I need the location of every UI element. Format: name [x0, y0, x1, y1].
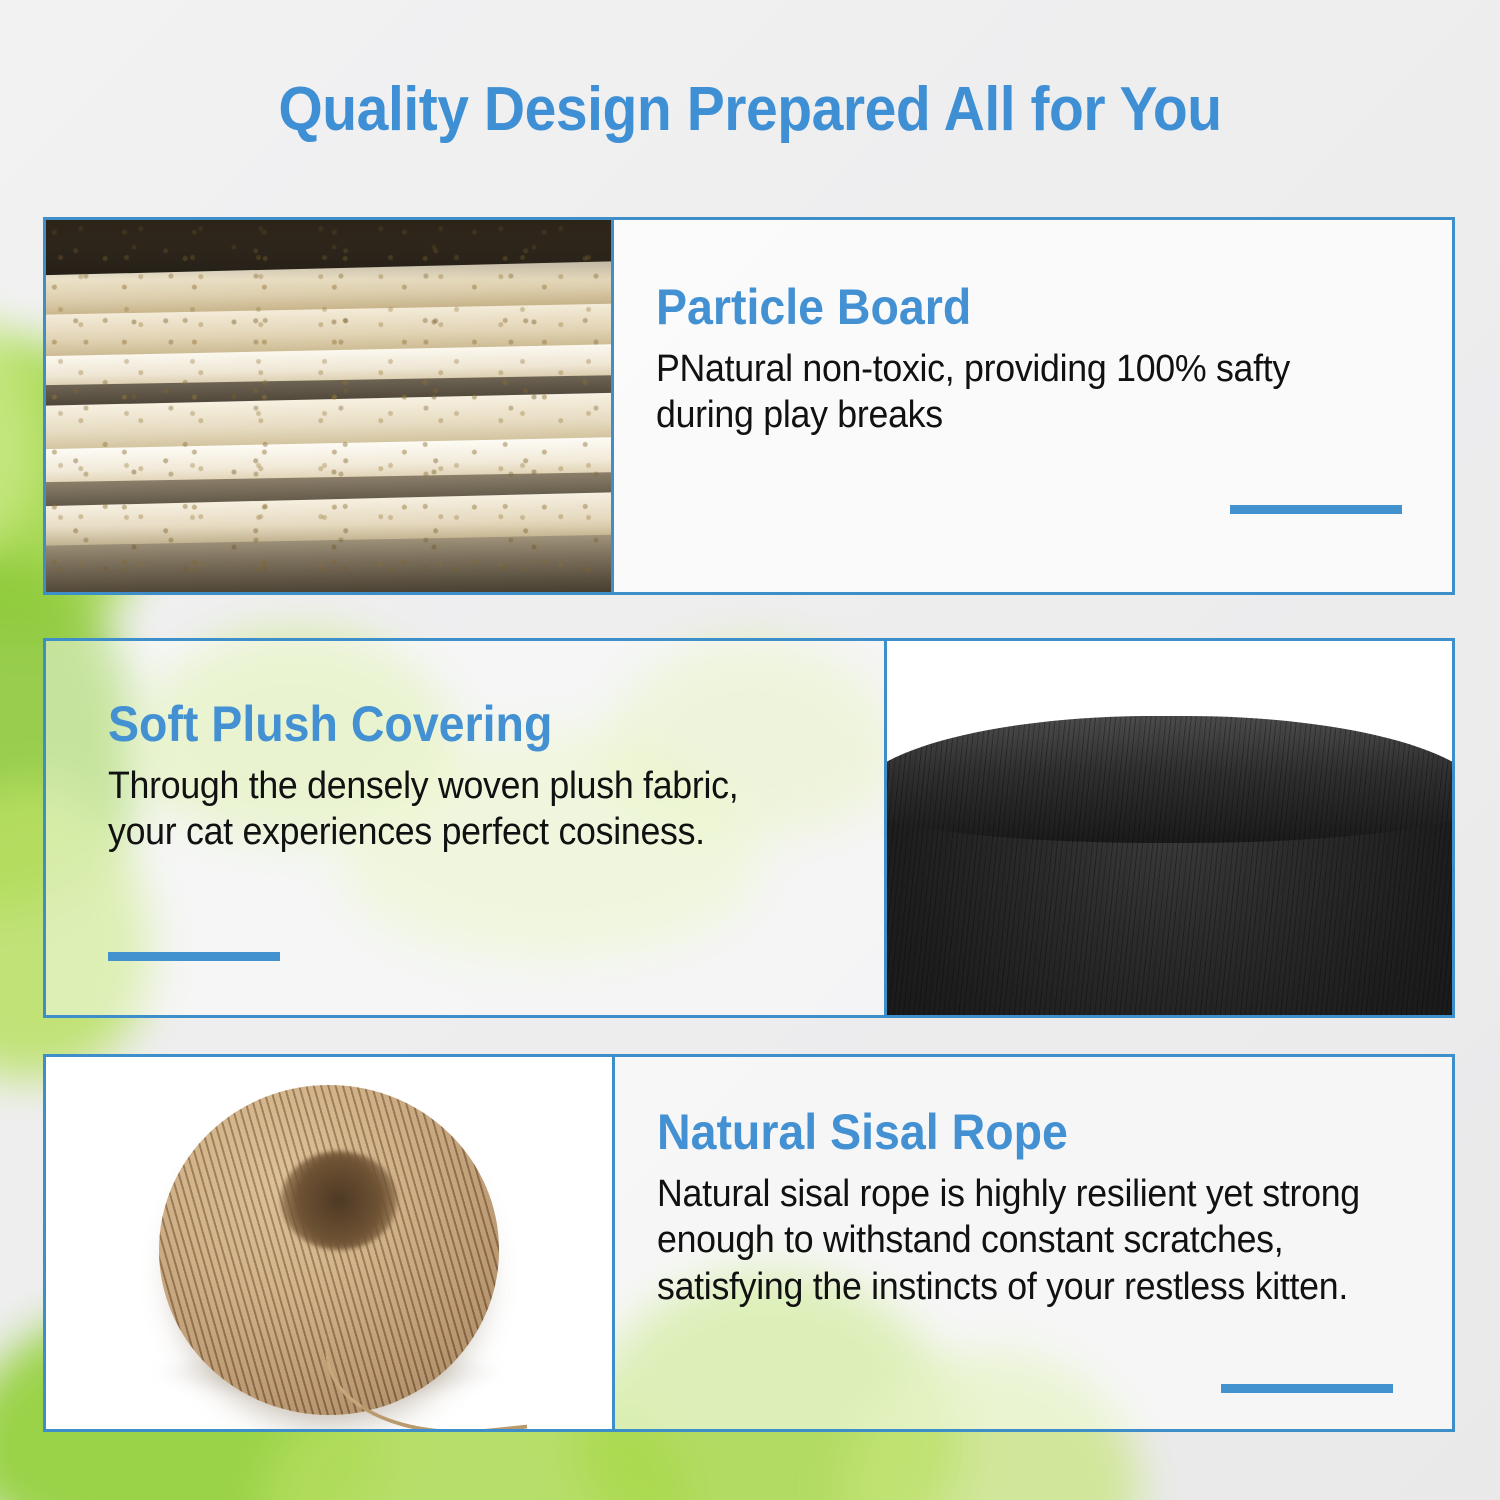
particle-board-heading: Particle Board [656, 282, 1359, 332]
sisal-rope-image [46, 1057, 612, 1429]
product-feature-infographic: Quality Design Prepared All for You Part… [0, 0, 1500, 1500]
particle-board-text-panel: Particle Board PNatural non-toxic, provi… [614, 220, 1452, 592]
plush-fabric-image [887, 641, 1452, 1015]
sisal-heading: Natural Sisal Rope [657, 1107, 1359, 1157]
feature-card-sisal: Natural Sisal Rope Natural sisal rope is… [43, 1054, 1455, 1432]
plush-heading: Soft Plush Covering [108, 699, 792, 749]
sisal-description: Natural sisal rope is highly resilient y… [657, 1171, 1367, 1310]
particle-board-image [46, 220, 611, 592]
accent-bar [108, 952, 280, 961]
plush-description: Through the densely woven plush fabric, … [108, 763, 800, 856]
plush-text-panel: Soft Plush Covering Through the densely … [46, 641, 884, 1015]
sisal-text-panel: Natural Sisal Rope Natural sisal rope is… [615, 1057, 1452, 1429]
feature-card-particle-board: Particle Board PNatural non-toxic, provi… [43, 217, 1455, 595]
accent-bar [1230, 505, 1402, 514]
feature-card-plush: Soft Plush Covering Through the densely … [43, 638, 1455, 1018]
particle-board-description: PNatural non-toxic, providing 100% safty… [656, 346, 1367, 439]
page-title: Quality Design Prepared All for You [60, 74, 1440, 145]
accent-bar [1221, 1384, 1393, 1393]
